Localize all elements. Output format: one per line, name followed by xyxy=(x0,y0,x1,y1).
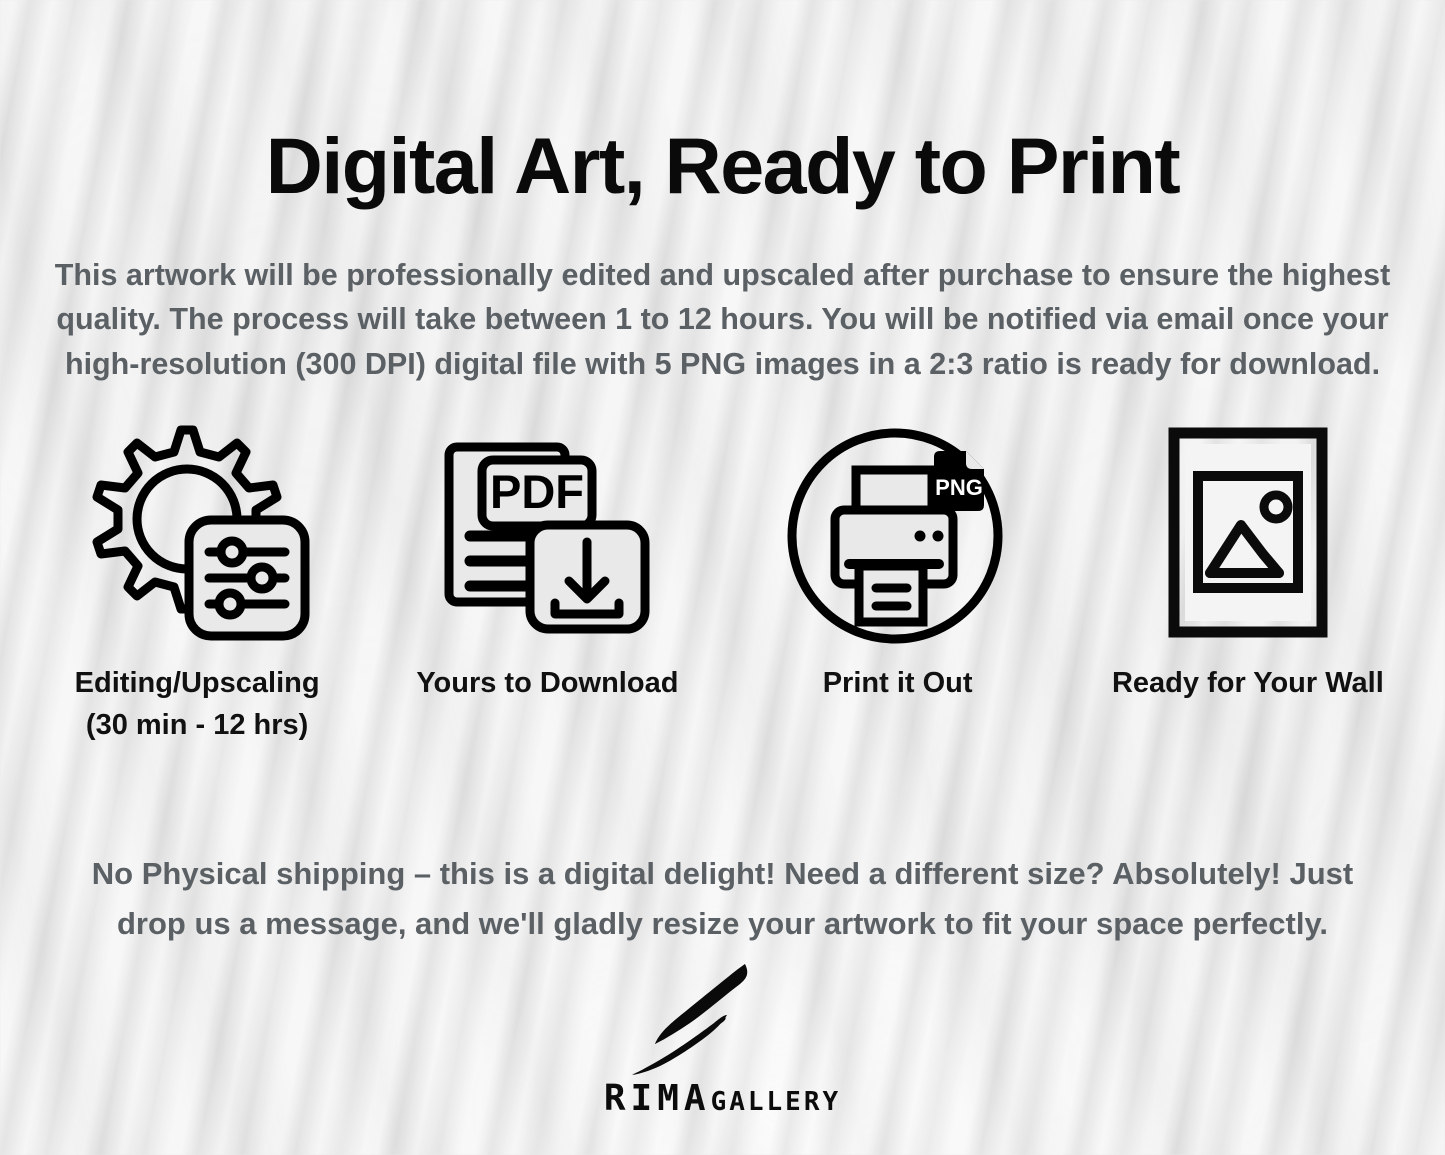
printer-led-2 xyxy=(932,530,943,541)
closing-paragraph: No Physical shipping – this is a digital… xyxy=(58,849,1388,948)
pdf-badge-label: PDF xyxy=(490,465,584,518)
feature-row: Editing/Upscaling (30 min - 12 hrs) PDF xyxy=(0,415,1445,746)
intro-paragraph: This artwork will be professionally edit… xyxy=(53,253,1393,387)
printer-circle-icon: PNG xyxy=(787,418,1009,648)
feature-label-print-it-out: Print it Out xyxy=(823,662,973,704)
brand-logo: RIMA GALLERY xyxy=(0,958,1445,1119)
brand-name: RIMA xyxy=(604,1078,711,1119)
feature-icon-wrap xyxy=(81,415,313,650)
brand-suffix: GALLERY xyxy=(711,1087,842,1117)
feature-editing-upscaling: Editing/Upscaling (30 min - 12 hrs) xyxy=(22,415,372,746)
rima-swoosh-mark xyxy=(628,958,818,1076)
feature-label-editing-upscaling: Editing/Upscaling (30 min - 12 hrs) xyxy=(75,662,320,746)
png-badge-label: PNG xyxy=(935,475,983,500)
feature-yours-to-download: PDF Yours to Download xyxy=(372,415,722,704)
feature-label-yours-to-download: Yours to Download xyxy=(416,662,678,704)
feature-icon-wrap: PNG xyxy=(787,415,1009,650)
content-layer: Digital Art, Ready to Print This artwork… xyxy=(0,0,1445,1155)
brand-wordmark: RIMA GALLERY xyxy=(604,1078,841,1119)
gear-settings-icon xyxy=(81,424,313,642)
printer-led-1 xyxy=(914,530,925,541)
pdf-download-icon: PDF xyxy=(442,430,652,635)
framed-picture-icon xyxy=(1168,425,1328,640)
printed-sheet xyxy=(859,566,923,622)
feature-icon-wrap xyxy=(1168,415,1328,650)
feature-ready-for-your-wall: Ready for Your Wall xyxy=(1073,415,1423,704)
promo-graphic: Digital Art, Ready to Print This artwork… xyxy=(0,0,1445,1155)
png-badge: PNG xyxy=(934,451,984,511)
feature-print-it-out: PNG Print it Out xyxy=(723,415,1073,704)
page-title: Digital Art, Ready to Print xyxy=(0,125,1445,208)
feature-label-ready-for-your-wall: Ready for Your Wall xyxy=(1112,662,1384,704)
feature-icon-wrap: PDF xyxy=(442,415,652,650)
